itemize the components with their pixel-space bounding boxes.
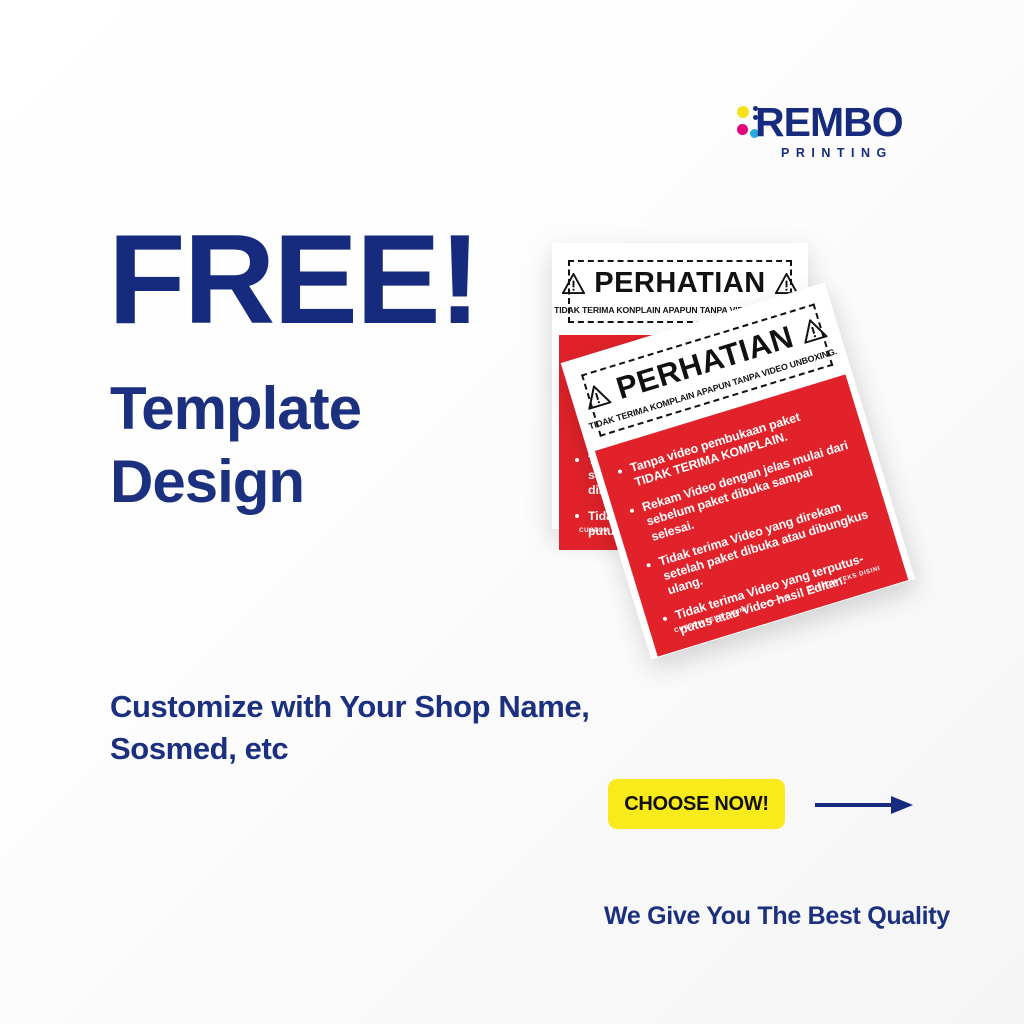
yellow-dot-icon — [737, 106, 749, 118]
poster-canvas: REMBO PRINTING FREE! Template Design Cus… — [0, 0, 1024, 1024]
arrow-right-icon — [815, 795, 913, 815]
headline-free: FREE! — [108, 216, 479, 343]
customize-tagline: Customize with Your Shop Name, Sosmed, e… — [110, 686, 589, 770]
brand-name: REMBO — [755, 100, 903, 144]
warning-triangle-icon — [798, 316, 827, 344]
headline-line-2: Design — [110, 445, 361, 518]
headline-subtitle: Template Design — [110, 372, 361, 518]
warning-triangle-icon — [583, 381, 612, 409]
headline-line-1: Template — [110, 372, 361, 445]
sticker-body: PERHATIAN TIDAK TERIMA KOMPLAIN APAPUN T… — [569, 291, 906, 651]
sticker-header-row: PERHATIAN — [576, 269, 784, 298]
logo-wordmark-row: REMBO — [737, 100, 927, 144]
sticker-title: PERHATIAN — [594, 269, 766, 298]
tagline-line-2: Sosmed, etc — [110, 728, 589, 770]
warning-triangle-icon — [562, 273, 585, 294]
magenta-dot-icon — [737, 124, 748, 135]
brand-logo: REMBO PRINTING — [737, 100, 927, 168]
brand-subtitle: PRINTING — [781, 146, 893, 160]
choose-now-button[interactable]: CHOOSE NOW! — [608, 779, 785, 829]
tagline-line-1: Customize with Your Shop Name, — [110, 686, 589, 728]
quality-statement: We Give You The Best Quality — [604, 902, 950, 931]
